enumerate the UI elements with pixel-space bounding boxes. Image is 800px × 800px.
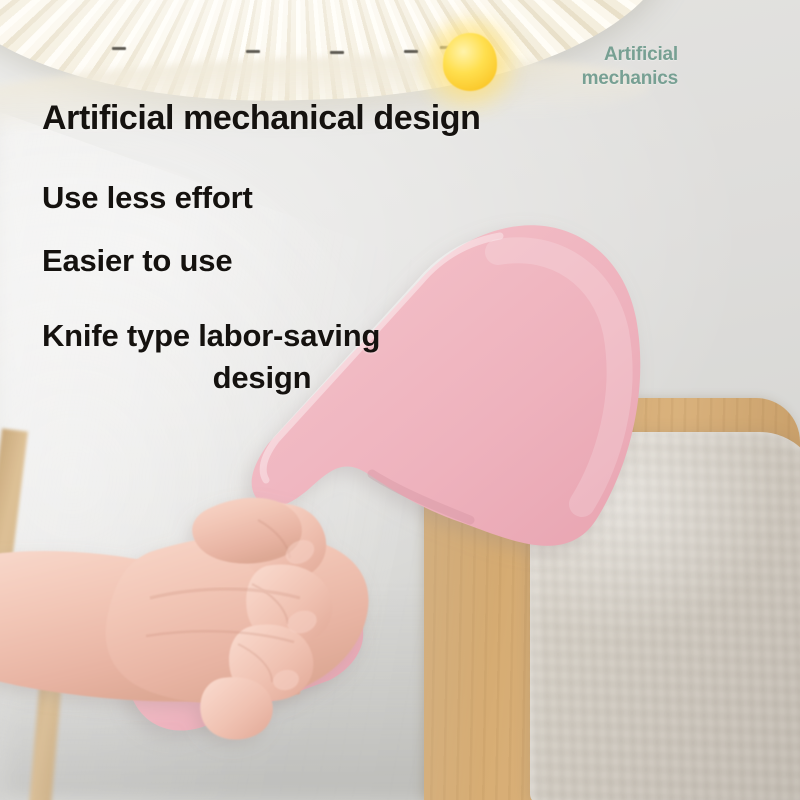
lampshade-clip — [112, 47, 126, 50]
floor-shadow — [0, 590, 470, 800]
light-bulb — [443, 33, 497, 91]
product-photo-canvas: Artificial mechanical design Use less ef… — [0, 0, 800, 800]
benefit-text-1: Use less effort — [42, 180, 253, 216]
watermark-line-2: mechanics — [556, 67, 678, 91]
feature-text-block: Knife type labor-saving design — [42, 315, 472, 398]
watermark-line-1: Artificial — [556, 43, 678, 67]
brand-watermark: Artificial mechanics — [556, 43, 678, 92]
feature-text-line-2: design — [42, 357, 472, 399]
headline-text: Artificial mechanical design — [42, 99, 481, 138]
benefit-text-2: Easier to use — [42, 243, 232, 279]
lampshade-clip — [330, 51, 344, 54]
feature-text-line-1: Knife type labor-saving — [42, 315, 472, 357]
cushion-fabric-texture — [530, 432, 800, 800]
lampshade-clip — [404, 50, 418, 53]
lampshade-clip — [246, 50, 260, 53]
